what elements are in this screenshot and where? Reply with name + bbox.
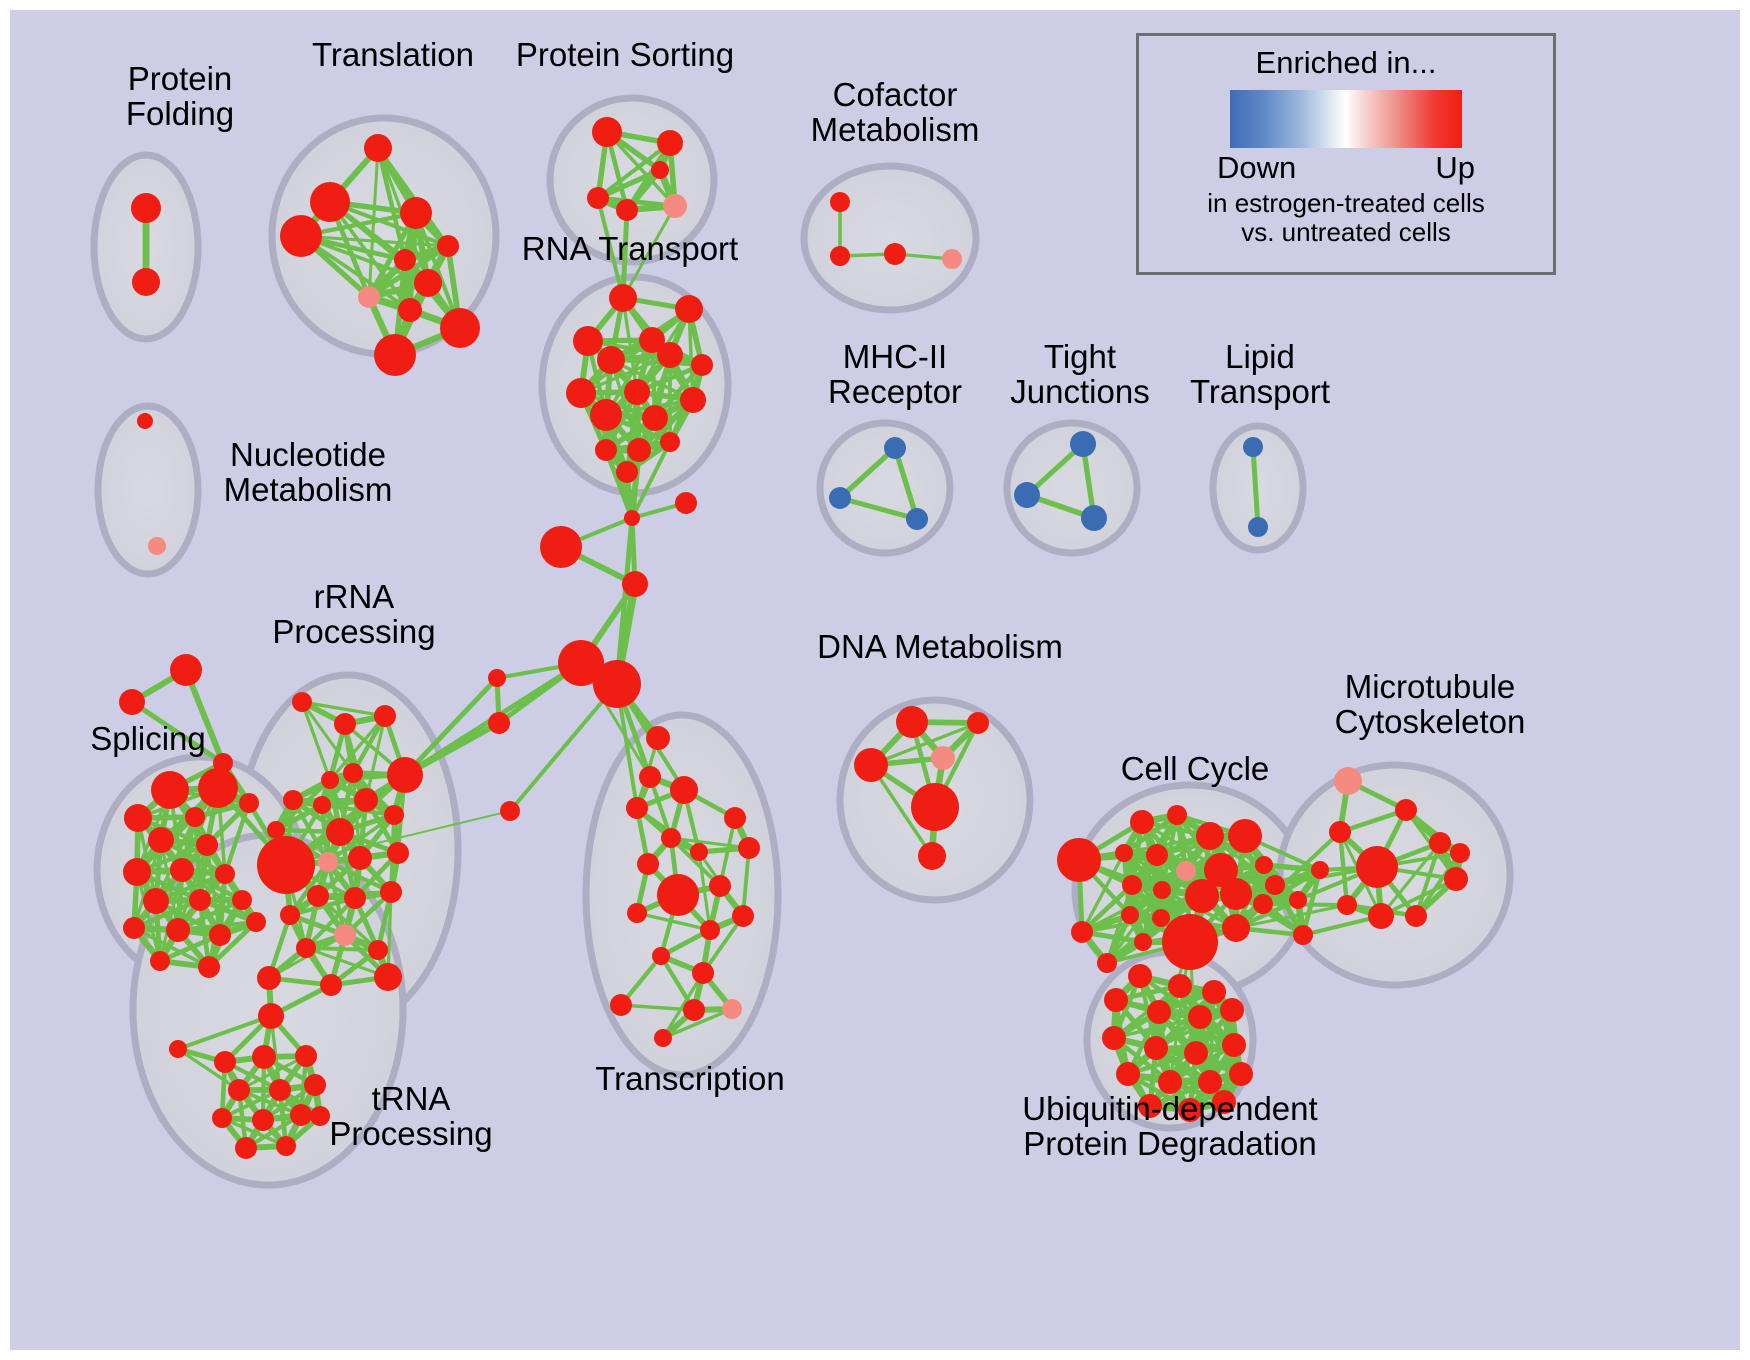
gene-set-node[interactable] [1014,482,1040,508]
network-canvas: Protein FoldingTranslationProtein Sortin… [10,10,1740,1350]
gene-set-node[interactable] [384,805,404,825]
gene-set-node[interactable] [414,269,442,297]
gene-set-node[interactable] [296,938,316,958]
gene-set-node[interactable] [228,1079,250,1101]
gene-set-node[interactable] [1222,1033,1246,1057]
gene-set-node[interactable] [123,917,145,939]
gene-set-node[interactable] [290,1104,312,1126]
gene-set-node[interactable] [1121,906,1139,924]
gene-set-node[interactable] [1071,921,1093,943]
gene-set-node[interactable] [592,117,622,147]
gene-set-node[interactable] [967,712,989,734]
legend-panel: Enriched in... Down Up in estrogen-treat… [1136,33,1556,275]
gene-set-node[interactable] [488,669,506,687]
gene-set-node[interactable] [1222,914,1250,942]
gene-set-node[interactable] [830,192,850,212]
gene-set-node[interactable] [829,487,851,509]
legend-high-label: Up [1435,150,1475,186]
gene-set-node[interactable] [587,187,609,209]
gene-set-node[interactable] [137,413,153,429]
gene-set-node[interactable] [1356,846,1398,888]
gene-set-node[interactable] [170,654,202,686]
gene-set-node[interactable] [642,405,668,431]
gene-set-node[interactable] [1444,867,1468,891]
gene-set-node[interactable] [1255,856,1273,874]
gene-set-node[interactable] [500,801,520,821]
gene-set-node[interactable] [1104,988,1128,1012]
gene-set-node[interactable] [313,796,331,814]
gene-set-node[interactable] [906,508,928,530]
gene-set-node[interactable] [1147,1000,1171,1024]
gene-set-node[interactable] [235,1137,257,1159]
gene-set-node[interactable] [292,692,312,712]
gene-set-node[interactable] [639,766,661,788]
gene-set-node[interactable] [663,194,687,218]
gene-set-node[interactable] [1311,861,1329,879]
gene-set-node[interactable] [343,763,363,783]
gene-set-node[interactable] [942,249,962,269]
gene-set-node[interactable] [1128,964,1152,988]
gene-set-node[interactable] [257,966,281,990]
gene-set-node[interactable] [590,399,622,431]
gene-set-node[interactable] [304,1074,326,1096]
gene-set-node[interactable] [1405,905,1427,927]
gene-set-node[interactable] [1293,925,1313,945]
gene-set-node[interactable] [593,660,641,708]
gene-set-node[interactable] [1196,822,1224,850]
gene-set-node[interactable] [196,834,218,856]
gene-set-node[interactable] [627,438,651,462]
gene-set-node[interactable] [214,1051,236,1073]
gene-set-node[interactable] [348,846,372,870]
gene-set-node[interactable] [1081,505,1107,531]
gene-set-node[interactable] [651,161,669,179]
gene-set-node[interactable] [437,235,459,257]
gene-set-node[interactable] [307,885,329,907]
gene-set-node[interactable] [318,852,338,872]
gene-set-node[interactable] [269,1079,291,1101]
gene-set-node[interactable] [1253,894,1273,914]
gene-set-node[interactable] [722,999,742,1019]
legend-caption-line-1: in estrogen-treated cells [1207,189,1484,218]
gene-set-node[interactable] [1220,998,1244,1022]
gene-set-node[interactable] [169,1040,187,1058]
gene-set-node[interactable] [280,905,300,925]
gene-set-node[interactable] [1134,933,1152,951]
legend-title: Enriched in... [1256,45,1437,81]
gene-set-node[interactable] [691,354,713,376]
gene-set-node[interactable] [692,962,714,984]
gene-set-node[interactable] [627,903,647,923]
gene-set-node[interactable] [185,807,205,827]
gene-set-node[interactable] [1158,1070,1182,1094]
gene-set-node[interactable] [344,887,366,909]
cluster-hull-cofactor-metab [804,166,976,310]
gene-set-node[interactable] [1167,805,1187,825]
gene-set-node[interactable] [119,689,145,715]
gene-set-node[interactable] [166,918,190,942]
gene-set-node[interactable] [143,888,169,914]
legend-caption-line-2: vs. untreated cells [1207,218,1484,247]
gene-set-node[interactable] [398,298,422,322]
gene-set-node[interactable] [624,379,650,405]
gene-set-node[interactable] [637,853,659,875]
gene-set-node[interactable] [1243,437,1263,457]
gene-set-node[interactable] [212,1108,232,1128]
gene-set-node[interactable] [1146,844,1168,866]
gene-set-node[interactable] [1337,895,1357,915]
gene-set-node[interactable] [675,492,697,514]
gene-set-node[interactable] [626,797,648,819]
gene-set-node[interactable] [387,842,409,864]
gene-set-node[interactable] [1176,861,1196,881]
gene-set-node[interactable] [661,828,681,848]
legend-endpoint-labels: Down Up [1217,150,1475,186]
gene-set-node[interactable] [132,268,160,296]
gene-set-node[interactable] [1248,517,1268,537]
gene-set-node[interactable] [724,807,746,829]
gene-set-node[interactable] [1450,843,1470,863]
gene-set-node[interactable] [1368,903,1394,929]
gene-set-node[interactable] [1144,1036,1168,1060]
gene-set-node[interactable] [1097,953,1117,973]
gene-set-node[interactable] [124,804,152,832]
gene-set-node[interactable] [400,197,432,229]
gene-set-node[interactable] [1212,1090,1236,1114]
gene-set-node[interactable] [1102,1026,1126,1050]
gene-set-node[interactable] [931,746,955,770]
gene-set-node[interactable] [1130,810,1154,834]
gene-set-node[interactable] [258,1003,284,1029]
gene-set-node[interactable] [232,890,252,910]
gene-set-node[interactable] [321,771,339,789]
gene-set-node[interactable] [610,994,632,1016]
gene-set-node[interactable] [368,940,388,960]
gene-set-node[interactable] [1185,879,1219,913]
gene-set-node[interactable] [573,326,603,356]
gene-set-node[interactable] [1265,875,1285,895]
gene-set-node[interactable] [387,757,423,793]
gene-set-node[interactable] [276,1136,296,1156]
gene-set-node[interactable] [609,284,637,312]
gene-set-node[interactable] [1178,1098,1202,1122]
gene-set-node[interactable] [1122,875,1142,895]
gene-set-node[interactable] [911,783,959,831]
gene-set-node[interactable] [566,378,596,408]
gene-set-node[interactable] [374,705,396,727]
gene-set-node[interactable] [1070,431,1096,457]
gene-set-node[interactable] [540,526,582,568]
gene-set-node[interactable] [683,999,705,1021]
gene-set-node[interactable] [896,706,928,738]
gene-set-node[interactable] [652,947,670,965]
gene-set-node[interactable] [283,790,303,810]
gene-set-node[interactable] [198,956,220,978]
gene-set-node[interactable] [884,437,906,459]
gene-set-node[interactable] [1184,1041,1208,1065]
gene-set-node[interactable] [209,924,231,946]
legend-caption: in estrogen-treated cells vs. untreated … [1207,189,1484,247]
gene-set-node[interactable] [364,134,392,162]
gene-set-node[interactable] [320,974,342,996]
gene-set-node[interactable] [738,837,760,859]
gene-set-node[interactable] [1334,767,1362,795]
gene-set-node[interactable] [622,571,648,597]
gene-set-node[interactable] [657,342,683,368]
gene-set-node[interactable] [1220,878,1252,910]
gene-set-node[interactable] [657,130,683,156]
gene-set-node[interactable] [646,726,670,750]
gene-set-node[interactable] [151,771,189,809]
legend-low-label: Down [1217,150,1296,186]
gene-set-node[interactable] [597,346,625,374]
gene-set-node[interactable] [1202,980,1226,1004]
gene-set-node[interactable] [310,1106,330,1126]
gene-set-node[interactable] [380,881,402,903]
gene-set-node[interactable] [1429,832,1451,854]
gene-set-node[interactable] [239,793,259,813]
gene-set-node[interactable] [310,182,350,222]
gene-set-node[interactable] [170,858,194,882]
gene-set-node[interactable] [440,308,480,348]
gene-set-node[interactable] [150,951,170,971]
gene-set-node[interactable] [732,905,754,927]
gene-set-node[interactable] [657,874,699,916]
gene-set-node[interactable] [709,875,731,897]
gene-set-node[interactable] [148,827,174,853]
gene-set-node[interactable] [1116,1062,1140,1086]
gene-set-node[interactable] [624,510,640,526]
gene-set-node[interactable] [358,286,380,308]
gene-set-node[interactable] [700,920,720,940]
gene-set-node[interactable] [1395,799,1417,821]
gene-set-node[interactable] [215,864,235,884]
gene-set-node[interactable] [660,432,680,452]
gene-set-node[interactable] [1115,844,1133,862]
gene-set-node[interactable] [354,788,378,812]
figure-root: Protein FoldingTranslationProtein Sortin… [0,0,1750,1360]
gene-set-node[interactable] [257,836,315,894]
gene-set-node[interactable] [918,842,946,870]
gene-set-node[interactable] [1198,1070,1222,1094]
gene-set-node[interactable] [295,1045,317,1067]
gene-set-node[interactable] [1168,974,1192,998]
gene-set-node[interactable] [690,843,708,861]
gene-set-node[interactable] [374,963,402,991]
gene-set-node[interactable] [670,776,698,804]
gene-set-node[interactable] [252,1109,274,1131]
gene-set-node[interactable] [616,199,638,221]
gene-set-node[interactable] [394,249,416,271]
gene-set-node[interactable] [1138,1094,1162,1118]
cluster-edge-rrna-processing [306,948,378,950]
gene-set-node[interactable] [595,439,617,461]
gene-set-node[interactable] [1329,821,1351,843]
gene-set-node[interactable] [854,748,888,782]
legend-color-gradient-bar [1230,90,1462,148]
gene-set-node[interactable] [1162,914,1218,970]
gene-set-node[interactable] [830,246,850,266]
gene-set-node[interactable] [680,387,706,413]
gene-set-node[interactable] [148,537,166,555]
gene-set-node[interactable] [326,818,354,846]
gene-set-node[interactable] [1228,819,1262,853]
gene-set-node[interactable] [884,243,906,265]
gene-set-node[interactable] [1057,838,1101,882]
gene-set-node[interactable] [1153,881,1171,899]
gene-set-node[interactable] [1289,891,1307,909]
gene-set-node[interactable] [280,215,322,257]
gene-set-node[interactable] [198,768,238,808]
gene-set-node[interactable] [616,461,638,483]
gene-set-node[interactable] [123,858,151,886]
gene-set-node[interactable] [675,295,703,323]
gene-set-node[interactable] [654,1029,672,1047]
gene-set-node[interactable] [1188,1005,1212,1029]
gene-set-node[interactable] [374,334,416,376]
gene-set-node[interactable] [246,912,266,932]
cluster-hull-nucleotide-metab [98,406,198,574]
gene-set-node[interactable] [334,924,356,946]
gene-set-node[interactable] [488,712,510,734]
gene-set-node[interactable] [252,1045,276,1069]
gene-set-node[interactable] [334,713,356,735]
gene-set-node[interactable] [1152,909,1170,927]
gene-set-node[interactable] [131,193,161,223]
gene-set-node[interactable] [1229,1062,1253,1086]
gene-set-node[interactable] [189,889,211,911]
